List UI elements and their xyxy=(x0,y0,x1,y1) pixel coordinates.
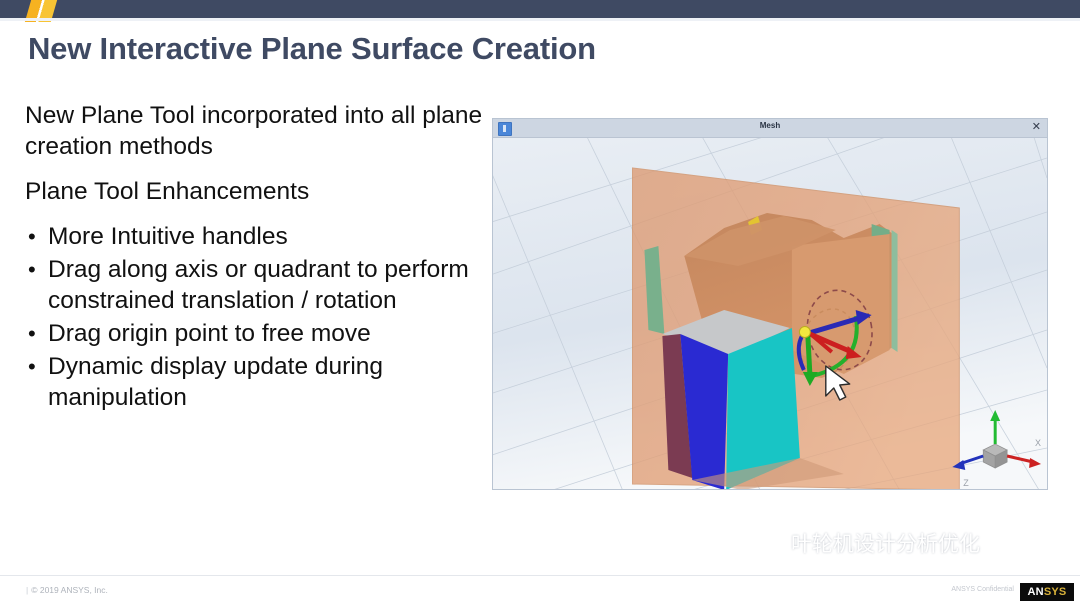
face-green-right-edge xyxy=(892,230,898,352)
bullet-glyph-icon: • xyxy=(28,318,36,349)
ansys-logo-sys: SYS xyxy=(1044,586,1067,598)
list-item-label: Dynamic display update during manipulati… xyxy=(48,353,383,411)
triad-label-x: X xyxy=(1035,438,1041,448)
list-item-label: Drag origin point to free move xyxy=(48,320,371,347)
bullet-glyph-icon: • xyxy=(28,254,36,285)
list-item: • More Intuitive handles xyxy=(25,221,490,252)
footer-confidential-label: ANSYS Confidential xyxy=(951,586,1014,593)
mesh-viewport-window[interactable]: Mesh ✕ xyxy=(492,118,1048,490)
bullet-glyph-icon: • xyxy=(28,351,36,382)
top-accent-bar xyxy=(0,0,1080,18)
slide-body: New Plane Tool incorporated into all pla… xyxy=(25,100,490,415)
page-title: New Interactive Plane Surface Creation xyxy=(28,31,596,67)
close-icon[interactable]: ✕ xyxy=(1032,122,1041,133)
axis-arrow-green[interactable] xyxy=(808,336,810,374)
top-bar-underline xyxy=(0,18,1080,21)
list-item-label: Drag along axis or quadrant to perform c… xyxy=(48,256,469,314)
gizmo-origin-point[interactable] xyxy=(799,327,810,338)
viewport-canvas[interactable]: X Z xyxy=(493,138,1047,490)
footer-divider xyxy=(0,575,1080,576)
3d-scene: X Z xyxy=(493,138,1047,490)
intro-paragraph: New Plane Tool incorporated into all pla… xyxy=(25,100,490,162)
list-item-label: More Intuitive handles xyxy=(48,223,288,250)
wechat-icon xyxy=(748,530,782,556)
footer-copyright-label: © 2019 ANSYS, Inc. xyxy=(31,585,108,595)
viewport-title: Mesh xyxy=(493,121,1047,130)
ansys-logo-an: AN xyxy=(1028,586,1044,598)
footer-copyright: |© 2019 ANSYS, Inc. xyxy=(26,585,108,595)
ansys-logo: ANSYS xyxy=(1020,583,1074,601)
list-item: • Drag origin point to free move xyxy=(25,318,490,349)
bullet-glyph-icon: • xyxy=(28,221,36,252)
list-item: • Drag along axis or quadrant to perform… xyxy=(25,254,490,316)
list-item: • Dynamic display update during manipula… xyxy=(25,351,490,413)
subheading: Plane Tool Enhancements xyxy=(25,176,490,207)
bullet-list: • More Intuitive handles • Drag along ax… xyxy=(25,221,490,413)
watermark-text: 叶轮机设计分析优化 xyxy=(791,528,980,558)
viewport-titlebar: Mesh ✕ xyxy=(493,119,1047,138)
footer-bar-glyph: | xyxy=(26,585,28,595)
wechat-watermark: 叶轮机设计分析优化 xyxy=(748,528,980,558)
triad-label-z: Z xyxy=(963,478,969,488)
